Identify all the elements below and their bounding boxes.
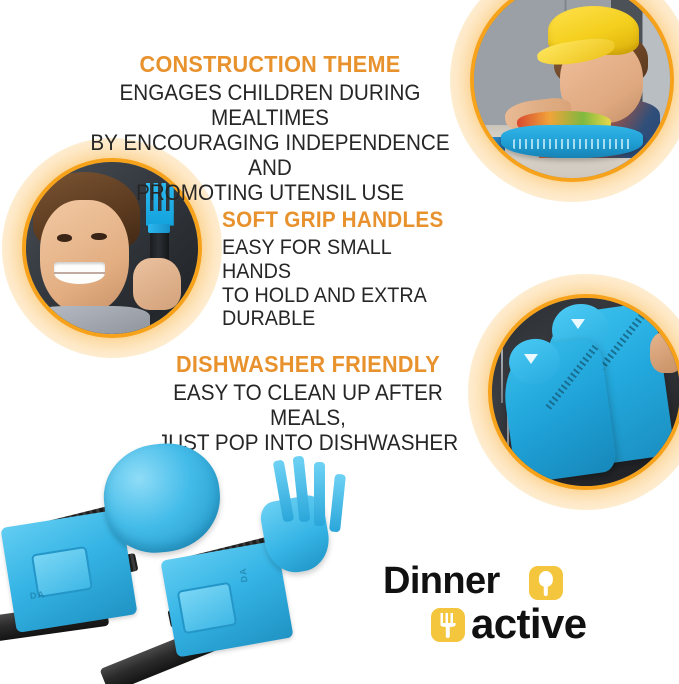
fork-tine — [329, 474, 346, 533]
feature-title-grip: SOFT GRIP HANDLES — [222, 208, 480, 231]
infographic-canvas: CONSTRUCTION THEME ENGAGES CHILDREN DURI… — [0, 0, 679, 684]
construction-theme-photo — [470, 0, 674, 182]
logo-word-active: active — [471, 600, 587, 648]
dinner-active-logo: Dinner active — [383, 560, 668, 655]
product-photo-spoon-and-fork: DA DA — [0, 440, 396, 684]
feature-block-grip: SOFT GRIP HANDLES EASY FOR SMALL HANDS T… — [222, 208, 480, 331]
fork-cab — [177, 582, 238, 635]
boy-smile — [54, 262, 106, 284]
feature-title-dishwasher: DISHWASHER FRIENDLY — [140, 352, 476, 376]
utensil-triangle-marking — [571, 319, 585, 329]
plate-ridges — [513, 139, 631, 149]
dishwasher-friendly-photo — [488, 294, 679, 490]
feature-title-construction: CONSTRUCTION THEME — [74, 52, 466, 76]
rack-tine — [501, 339, 503, 403]
fork-tine — [314, 462, 325, 526]
fork-collar — [148, 224, 170, 233]
fork-emboss-text: DA — [238, 567, 250, 583]
boy-eye-right — [91, 233, 106, 241]
spoon-icon — [529, 566, 563, 600]
fork-icon-stem — [446, 626, 450, 638]
fork-icon — [431, 608, 465, 642]
utensil-triangle-marking — [524, 354, 538, 364]
logo-word-dinner: Dinner — [383, 560, 500, 603]
feature-body-grip: EASY FOR SMALL HANDS TO HOLD AND EXTRA D… — [222, 236, 480, 331]
boy-hand — [133, 258, 181, 310]
boy-shirt — [29, 306, 149, 334]
feature-body-construction: ENGAGES CHILDREN DURING MEALTIMES BY ENC… — [74, 81, 466, 205]
hand-holding-utensil — [650, 332, 679, 373]
boy-face — [40, 200, 129, 314]
feature-block-construction: CONSTRUCTION THEME ENGAGES CHILDREN DURI… — [74, 52, 466, 205]
spoon-icon-stem — [544, 585, 548, 596]
